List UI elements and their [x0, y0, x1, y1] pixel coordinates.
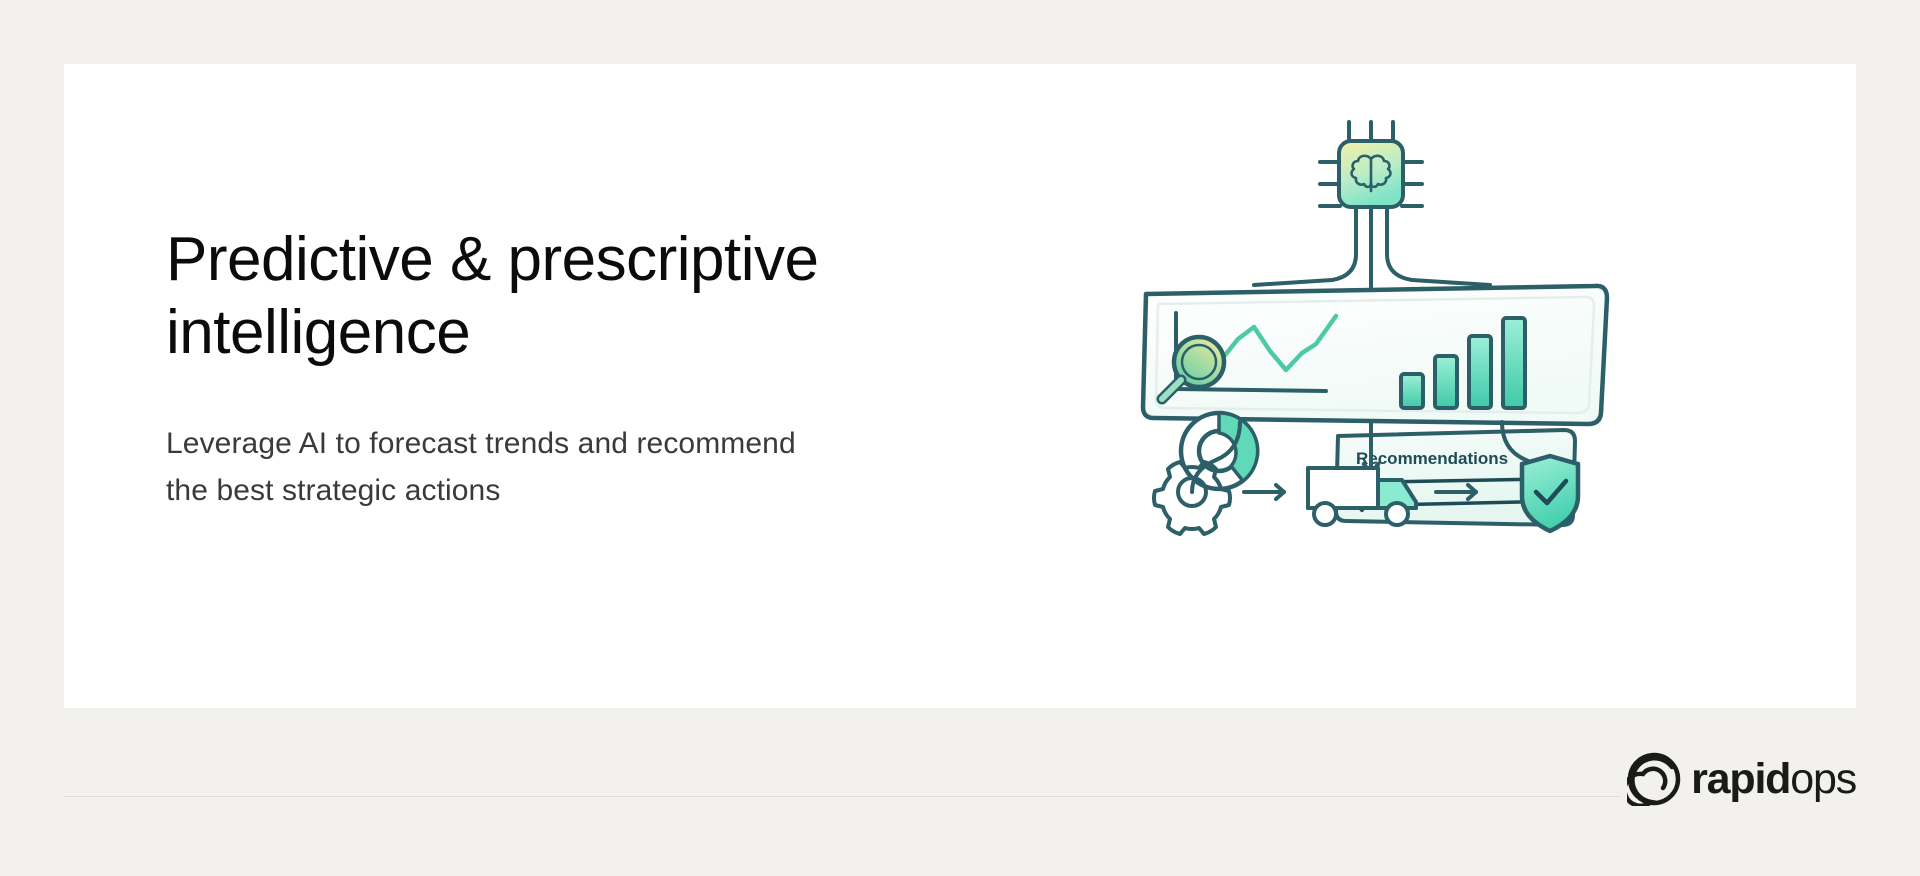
slide-card: Predictive & prescriptive intelligence L…	[64, 64, 1856, 708]
footer: rapidops	[64, 796, 1856, 876]
brand-wordmark: rapidops	[1691, 758, 1856, 801]
page-subtitle: Leverage AI to forecast trends and recom…	[166, 421, 856, 514]
arrow-right-icon	[1244, 485, 1284, 499]
page-title: Predictive & prescriptive intelligence	[166, 224, 986, 369]
brand-name-bold: rapid	[1691, 755, 1790, 803]
shield-check-icon	[1522, 456, 1578, 531]
rapidops-spiral-logo-icon	[1627, 752, 1681, 806]
text-column: Predictive & prescriptive intelligence L…	[166, 224, 986, 514]
footer-divider	[64, 796, 1620, 797]
brain-chip-icon	[1320, 122, 1422, 207]
brand-logo: rapidops	[1627, 752, 1856, 806]
predictive-intelligence-illustration: Recommendations	[1124, 104, 1624, 564]
brand-name-light: ops	[1790, 755, 1856, 803]
